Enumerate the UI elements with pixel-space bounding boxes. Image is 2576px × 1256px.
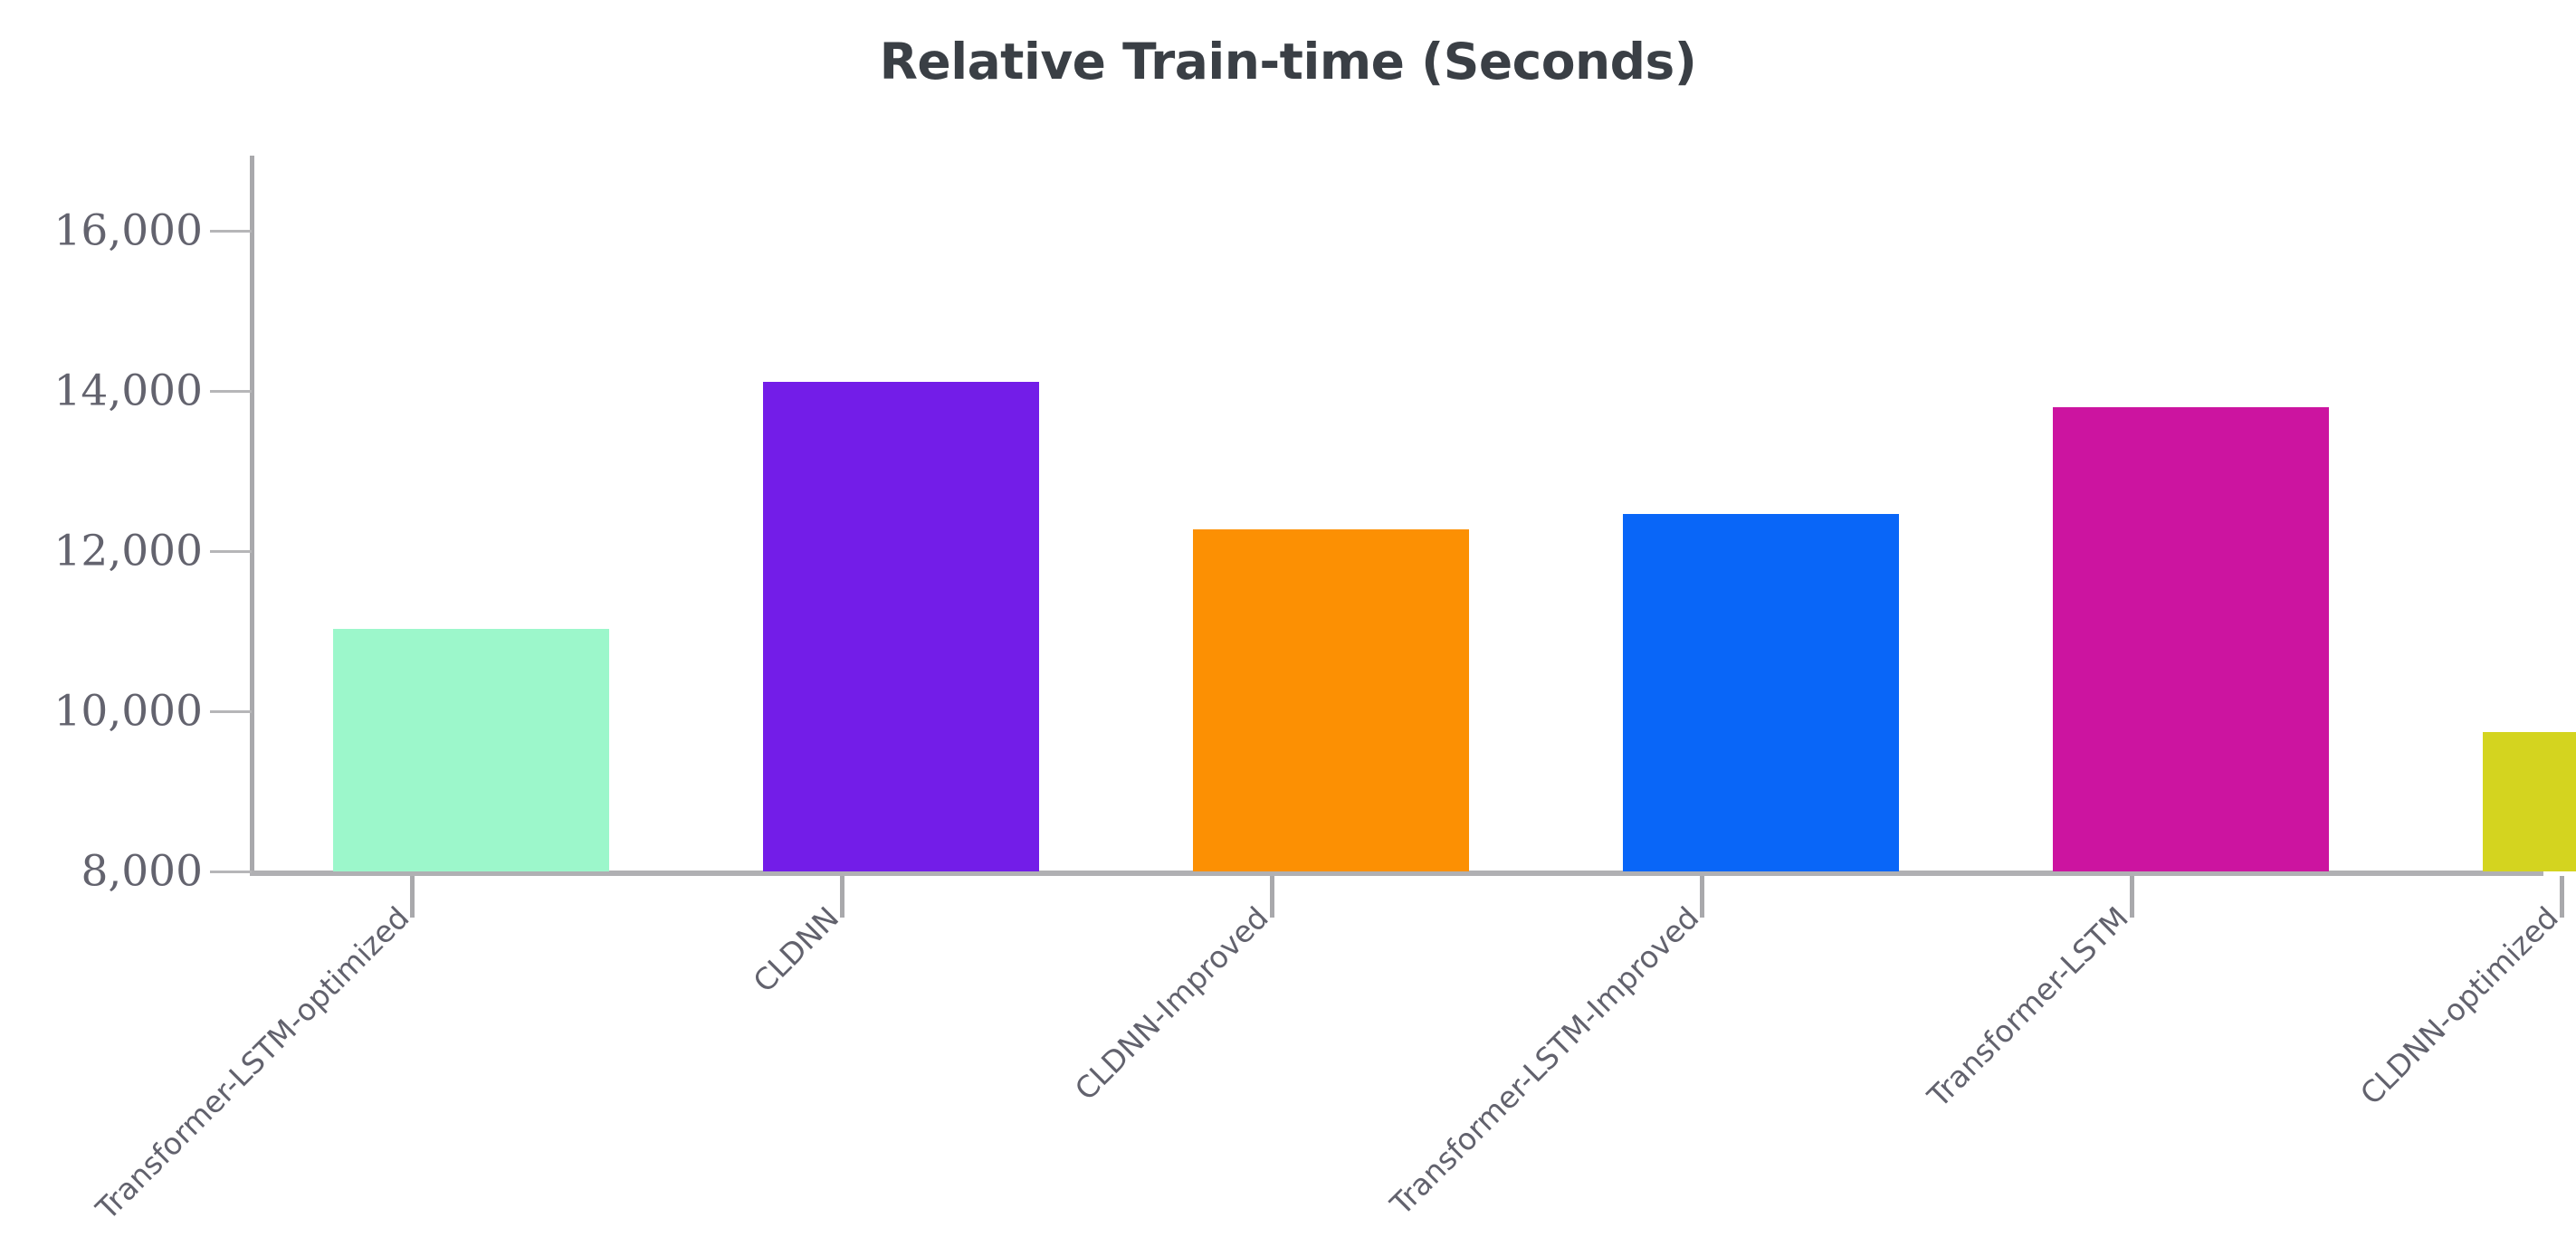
y-axis-tick-label: 12,000: [54, 527, 203, 576]
bar[interactable]: [763, 382, 1039, 871]
x-axis-label: CLDNN-Improved: [1068, 899, 1275, 1107]
x-axis-label: Transformer-LSTM-Improved: [1383, 899, 1705, 1222]
x-axis-label: Transformer-LSTM: [1921, 899, 2135, 1114]
y-axis-line: [250, 156, 254, 873]
y-axis-tick-label: 10,000: [54, 687, 203, 737]
y-axis-tick: [210, 390, 252, 393]
y-axis-tick-label: 16,000: [54, 206, 203, 256]
x-axis-tick: [840, 876, 844, 918]
bar-chart: Relative Train-time (Seconds) 8,00010,00…: [0, 0, 2576, 1256]
y-axis-tick-label: 14,000: [54, 366, 203, 416]
y-axis-tick: [210, 871, 252, 873]
x-axis-label: Transformer-LSTM-optimized: [89, 899, 415, 1226]
x-axis-tick: [1270, 876, 1274, 918]
bar[interactable]: [1193, 529, 1469, 871]
bar[interactable]: [2483, 732, 2576, 871]
y-axis-tick: [210, 550, 252, 553]
x-axis-tick: [2560, 876, 2564, 918]
bar[interactable]: [333, 629, 609, 871]
y-axis-tick: [210, 230, 252, 233]
x-axis-label: CLDNN: [746, 899, 845, 999]
bar[interactable]: [2053, 407, 2329, 871]
y-axis-tick-label: 8,000: [81, 847, 203, 897]
x-axis-tick: [2130, 876, 2134, 918]
x-axis-tick: [1700, 876, 1704, 918]
x-axis-label: CLDNN-optimized: [2353, 899, 2565, 1111]
bar[interactable]: [1623, 514, 1899, 871]
x-axis-tick: [410, 876, 415, 918]
plot-area: 8,00010,00012,00014,00016,000 Transforme…: [0, 0, 2576, 1256]
y-axis-tick: [210, 710, 252, 713]
